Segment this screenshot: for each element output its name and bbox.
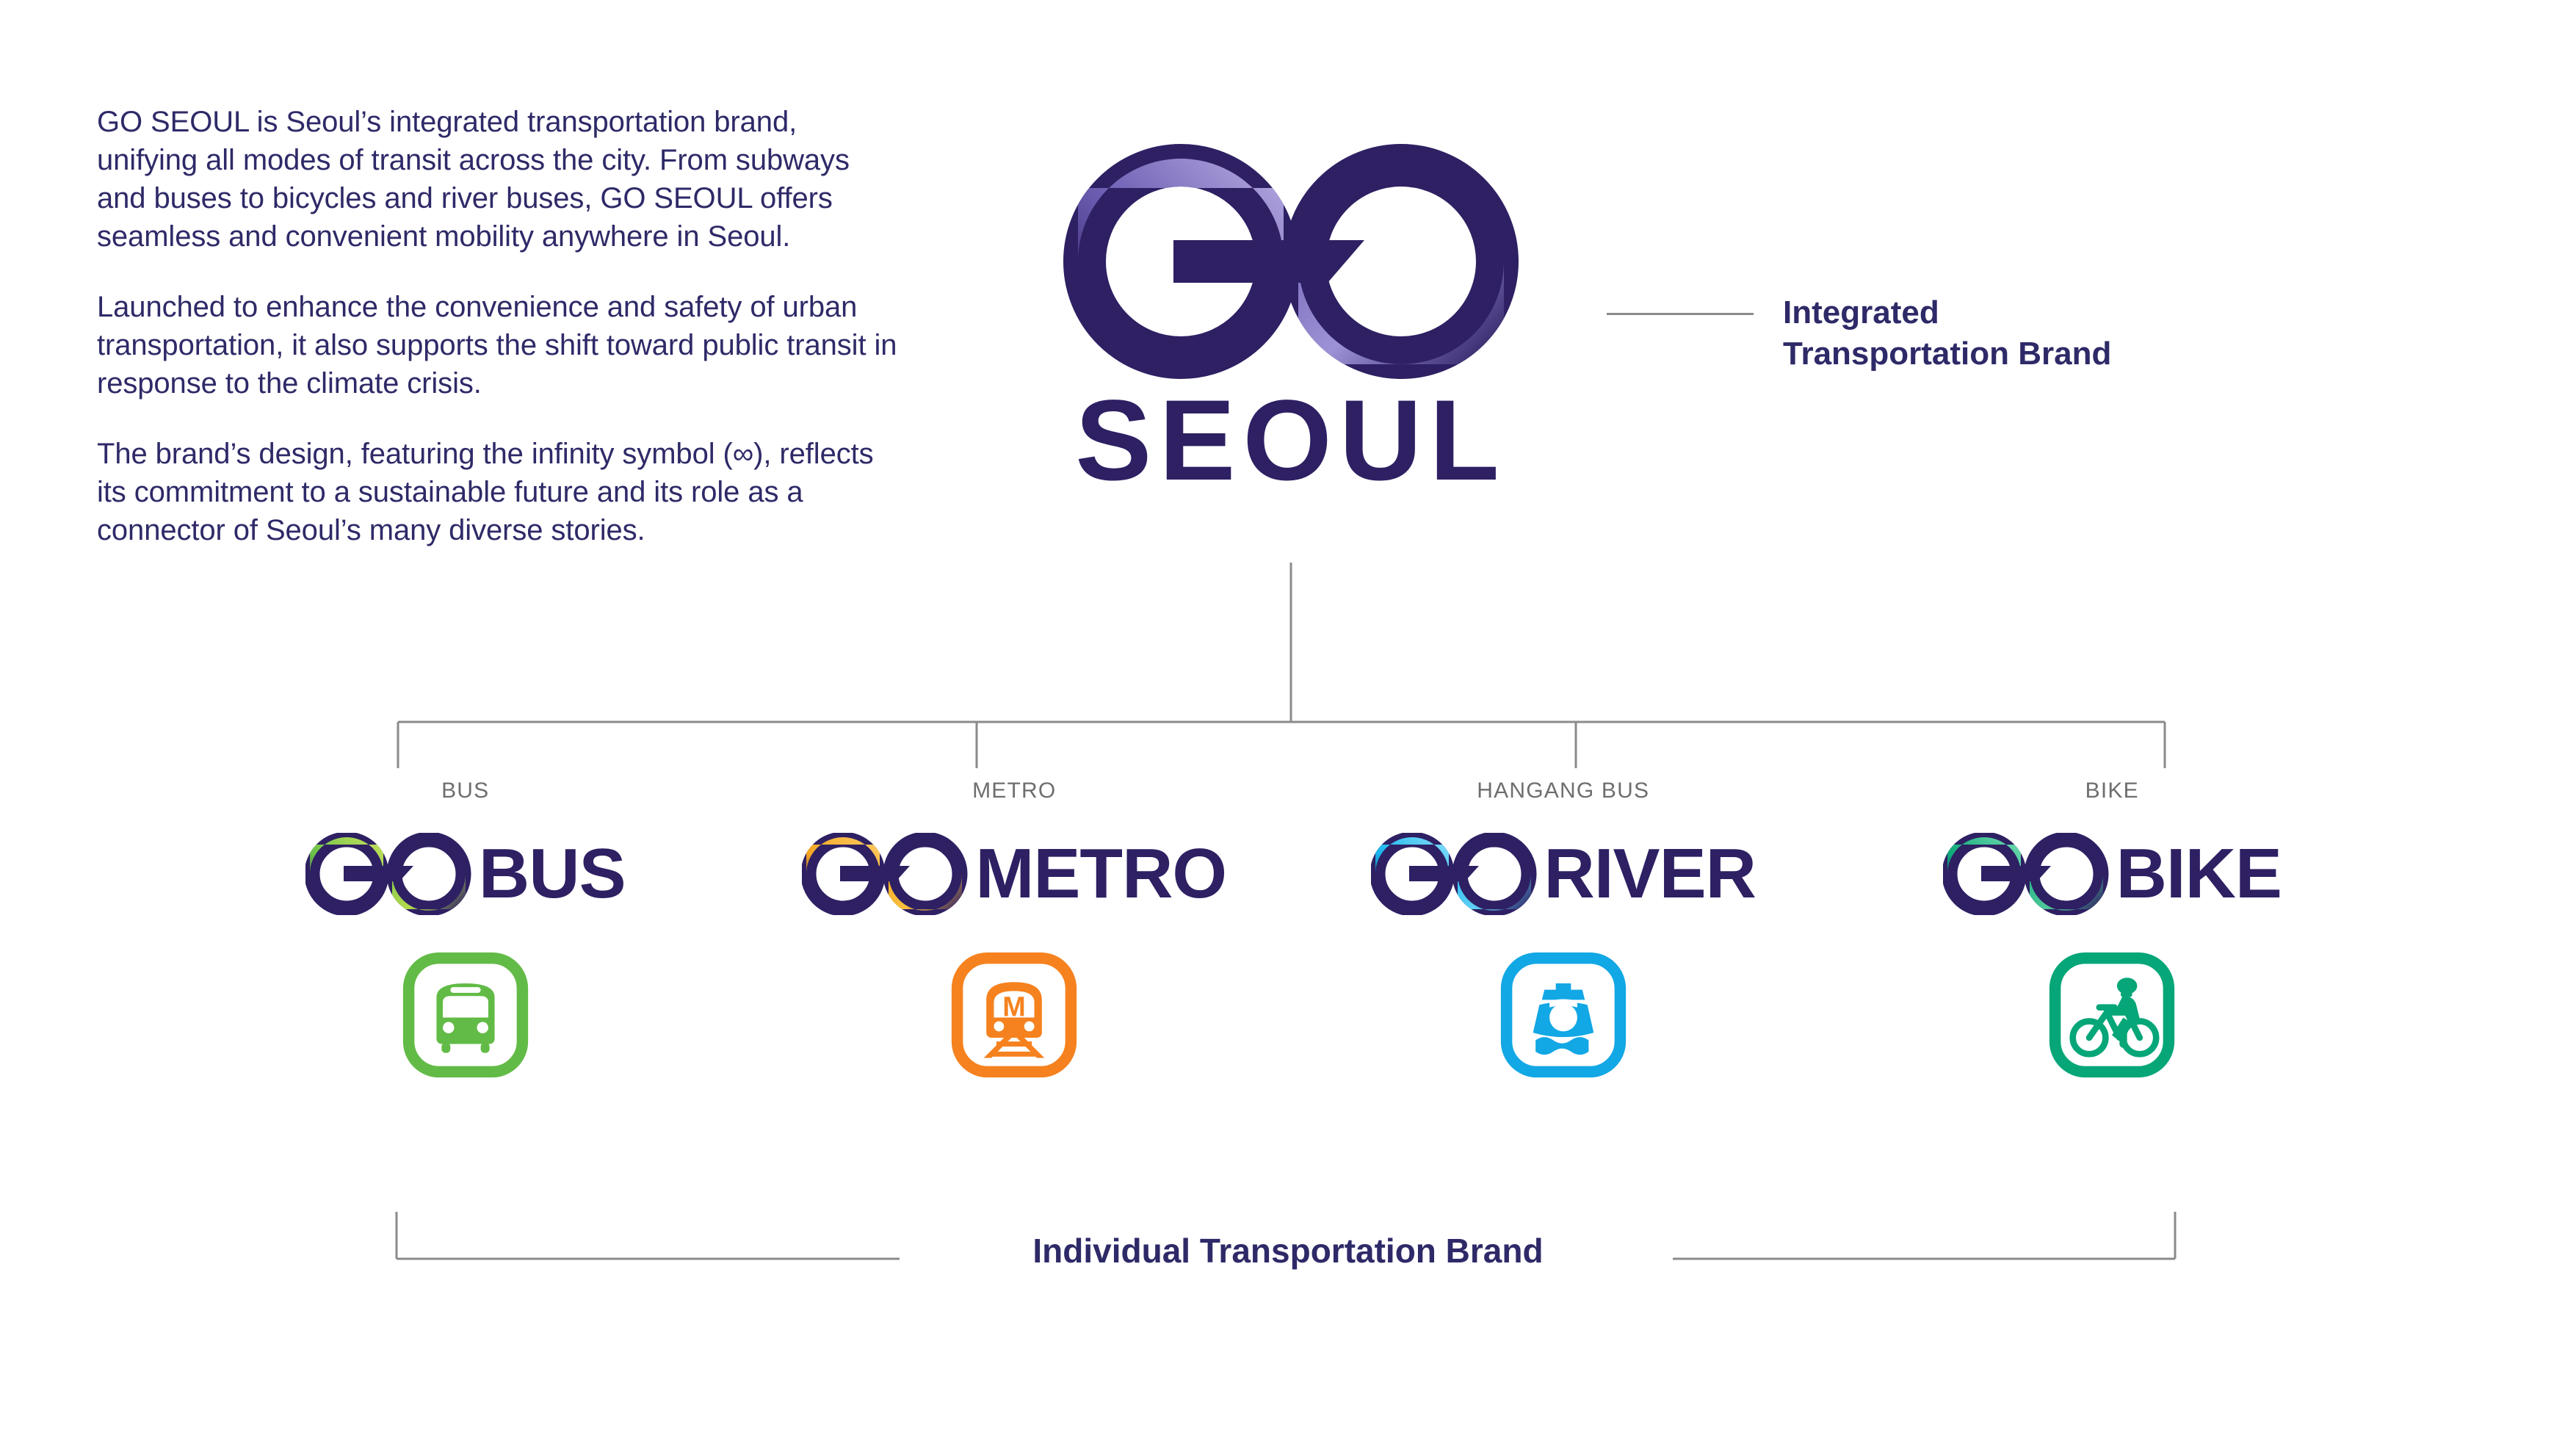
metro-train-icon[interactable]: M [951,952,1077,1078]
go-infinity-mark [1063,144,1519,379]
sub-brand-wordmark-metro: METRO [975,839,1226,909]
callout-connector-line [1607,313,1754,315]
sub-brand-label-bus: BUS [441,778,489,803]
bus-icon[interactable] [402,952,529,1078]
go-infinity-mark-river [1371,833,1540,915]
sub-brand-row: BUS [191,778,2387,1078]
sub-brand-wordmark-bus: BUS [479,839,626,909]
integrated-brand-callout: Integrated Transportation Brand [1607,292,2111,375]
individual-brand-label: Individual Transportation Brand [0,1231,2576,1271]
sub-brand-metro[interactable]: METRO [740,778,1289,1078]
intro-paragraph-3: The brand’s design, featuring the infini… [97,435,897,549]
master-brand-logo: SEOUL [1041,144,1541,526]
sub-brand-logo-bike: BIKE [1943,830,2282,918]
sub-brand-bike[interactable]: BIKE [1838,778,2387,1078]
sub-brand-logo-bus: BUS [305,830,626,918]
integrated-brand-label: Integrated Transportation Brand [1783,292,2111,375]
sub-brand-logo-river: RIVER [1371,830,1756,918]
sub-brand-hangang-bus[interactable]: HANGANG BUS [1289,778,1838,1078]
sub-brand-logo-metro: METRO [802,830,1226,918]
go-infinity-mark-bus [305,833,474,915]
svg-text:M: M [1002,992,1026,1023]
master-wordmark: SEOUL [1075,383,1506,498]
sub-brand-label-metro: METRO [972,778,1056,803]
bicycle-rider-icon[interactable] [2049,952,2175,1078]
sub-brand-wordmark-river: RIVER [1544,839,1756,909]
intro-paragraph-2: Launched to enhance the convenience and … [97,288,897,402]
sub-brand-bus[interactable]: BUS [191,778,740,1078]
sub-brand-wordmark-bike: BIKE [2116,839,2282,909]
sub-brand-label-bike: BIKE [2085,778,2139,803]
intro-text-block: GO SEOUL is Seoul’s integrated transport… [97,103,897,549]
ferry-boat-icon[interactable] [1500,952,1627,1078]
go-infinity-mark-bike [1943,833,2112,915]
go-infinity-mark-metro [802,833,971,915]
intro-paragraph-1: GO SEOUL is Seoul’s integrated transport… [97,103,897,256]
sub-brand-label-hangang-bus: HANGANG BUS [1477,778,1649,803]
